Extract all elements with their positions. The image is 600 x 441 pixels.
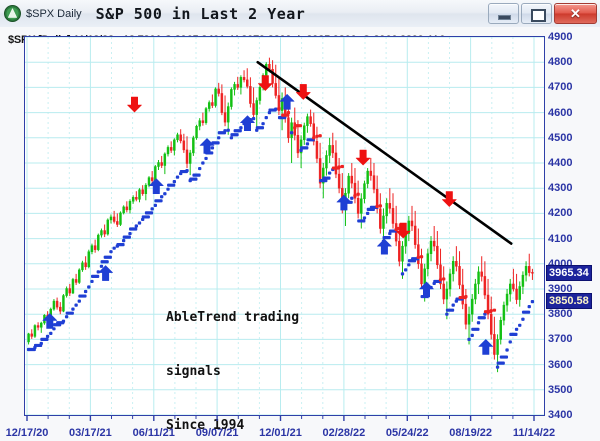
y-axis-tick-label: 3700	[548, 333, 572, 345]
window-title: S&P 500 in Last 2 Year	[96, 5, 306, 23]
y-axis-tick-label: 4900	[548, 31, 572, 43]
y-axis-tick-label: 3600	[548, 359, 572, 371]
y-axis-tick-label: 3800	[548, 308, 572, 320]
y-axis-tick-label: 3500	[548, 384, 572, 396]
window-title-bar: $SPX Daily S&P 500 in Last 2 Year ✕	[0, 0, 600, 28]
y-axis-tick-label: 4300	[548, 182, 572, 194]
x-axis-tick-label: 03/17/21	[69, 427, 112, 439]
close-button[interactable]: ✕	[554, 3, 597, 24]
y-axis-tick-label: 4800	[548, 56, 572, 68]
y-axis-tick-label: 4600	[548, 107, 572, 119]
x-axis-tick-label: 12/17/20	[6, 427, 49, 439]
y-axis-tick-label: 4700	[548, 81, 572, 93]
y-axis-tick-label: 4200	[548, 207, 572, 219]
y-axis-tick-label: 4100	[548, 233, 572, 245]
y-axis-tick-label: 4500	[548, 132, 572, 144]
x-axis-tick-label: 11/14/22	[513, 427, 555, 439]
last-price-tag: 3965.34	[546, 265, 592, 281]
chart-panel: $SPX [Daily] 11/18/22 +18.7801 C 3965.34…	[0, 27, 600, 441]
minimize-icon	[498, 15, 511, 20]
annotation-line-2: signals	[166, 363, 299, 381]
annotation-line-1: AbleTrend trading	[166, 309, 299, 327]
y-axis-tick-label: 4400	[548, 157, 572, 169]
x-axis-tick-label: 02/28/22	[322, 427, 365, 439]
close-icon: ✕	[555, 4, 596, 23]
x-axis-tick-label: 08/19/22	[449, 427, 492, 439]
x-axis-tick-marks	[0, 416, 600, 426]
abletrend-logo-icon	[4, 5, 21, 22]
y-axis-labels: 4900480047004600450044004300420041004000…	[548, 36, 600, 418]
minimize-button[interactable]	[488, 3, 519, 24]
x-axis-tick-label: 05/24/22	[386, 427, 429, 439]
window-controls: ✕	[488, 3, 597, 24]
maximize-icon	[531, 9, 546, 22]
abletrend-chart-window: $SPX Daily S&P 500 in Last 2 Year ✕ $SPX…	[0, 0, 600, 441]
window-symbol-label: $SPX Daily	[26, 8, 82, 20]
stop-price-tag: 3850.58	[546, 293, 592, 309]
maximize-button[interactable]	[521, 3, 552, 24]
